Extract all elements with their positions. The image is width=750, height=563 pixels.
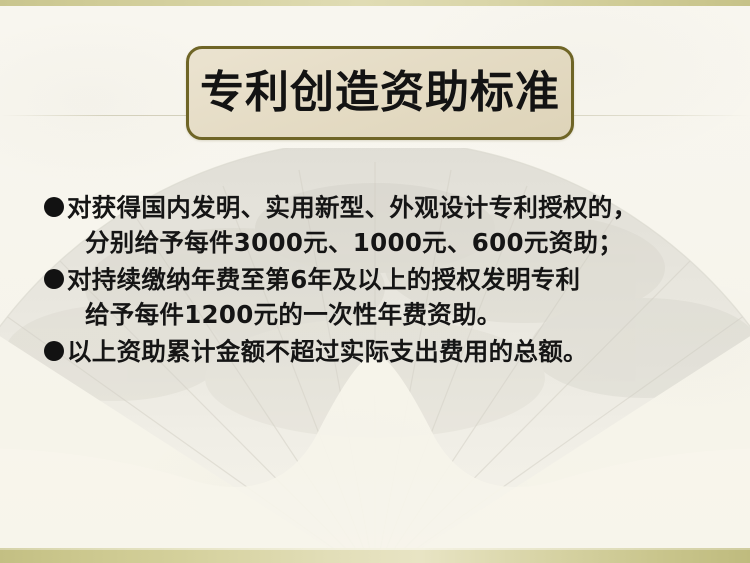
bottom-accent-bar xyxy=(0,548,750,563)
top-accent-bar xyxy=(0,0,750,6)
bullet-text-2: 对持续缴纳年费至第6年及以上的授权发明专利 给予每件1200元的一次性年费资助。 xyxy=(67,262,580,332)
bullet-dot-icon xyxy=(44,269,64,289)
list-item: 对持续缴纳年费至第6年及以上的授权发明专利 给予每件1200元的一次性年费资助。 xyxy=(44,262,724,332)
bullet-line-3a: 以上资助累计金额不超过实际支出费用的总额。 xyxy=(67,337,588,366)
bullet-dot-icon xyxy=(44,341,64,361)
slide-canvas: 专利创造资助标准 对获得国内发明、实用新型、外观设计专利授权的， 分别给予每件3… xyxy=(0,0,750,563)
bullet-line-1a: 对获得国内发明、实用新型、外观设计专利授权的， xyxy=(67,193,637,222)
bullet-text-1: 对获得国内发明、实用新型、外观设计专利授权的， 分别给予每件3000元、1000… xyxy=(67,190,637,260)
bullet-line-1b: 分别给予每件3000元、1000元、600元资助； xyxy=(67,225,637,260)
bullet-line-2a: 对持续缴纳年费至第6年及以上的授权发明专利 xyxy=(67,265,580,294)
bullet-list: 对获得国内发明、实用新型、外观设计专利授权的， 分别给予每件3000元、1000… xyxy=(44,190,724,371)
list-item: 以上资助累计金额不超过实际支出费用的总额。 xyxy=(44,334,724,369)
bullet-text-3: 以上资助累计金额不超过实际支出费用的总额。 xyxy=(67,334,588,369)
bullet-dot-icon xyxy=(44,197,64,217)
title-box: 专利创造资助标准 xyxy=(186,46,574,140)
page-title: 专利创造资助标准 xyxy=(200,71,560,115)
bullet-line-2b: 给予每件1200元的一次性年费资助。 xyxy=(67,297,580,332)
list-item: 对获得国内发明、实用新型、外观设计专利授权的， 分别给予每件3000元、1000… xyxy=(44,190,724,260)
